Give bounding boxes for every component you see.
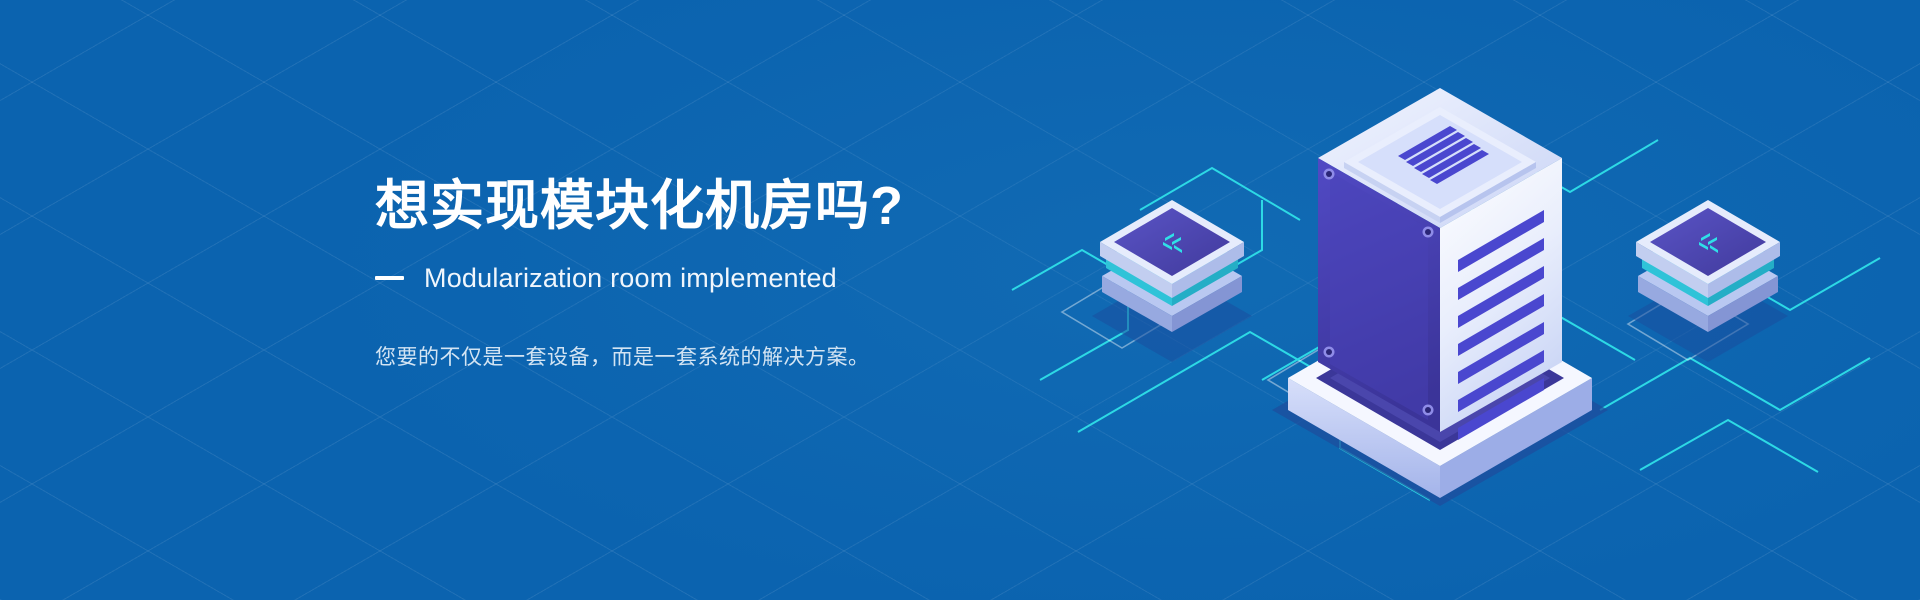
- hero-banner: 想实现模块化机房吗? Modularization room implement…: [0, 0, 1920, 600]
- subtitle-text: Modularization room implemented: [424, 263, 837, 294]
- dash-marker-icon: [375, 276, 404, 280]
- isometric-server-illustration: [1000, 80, 1920, 520]
